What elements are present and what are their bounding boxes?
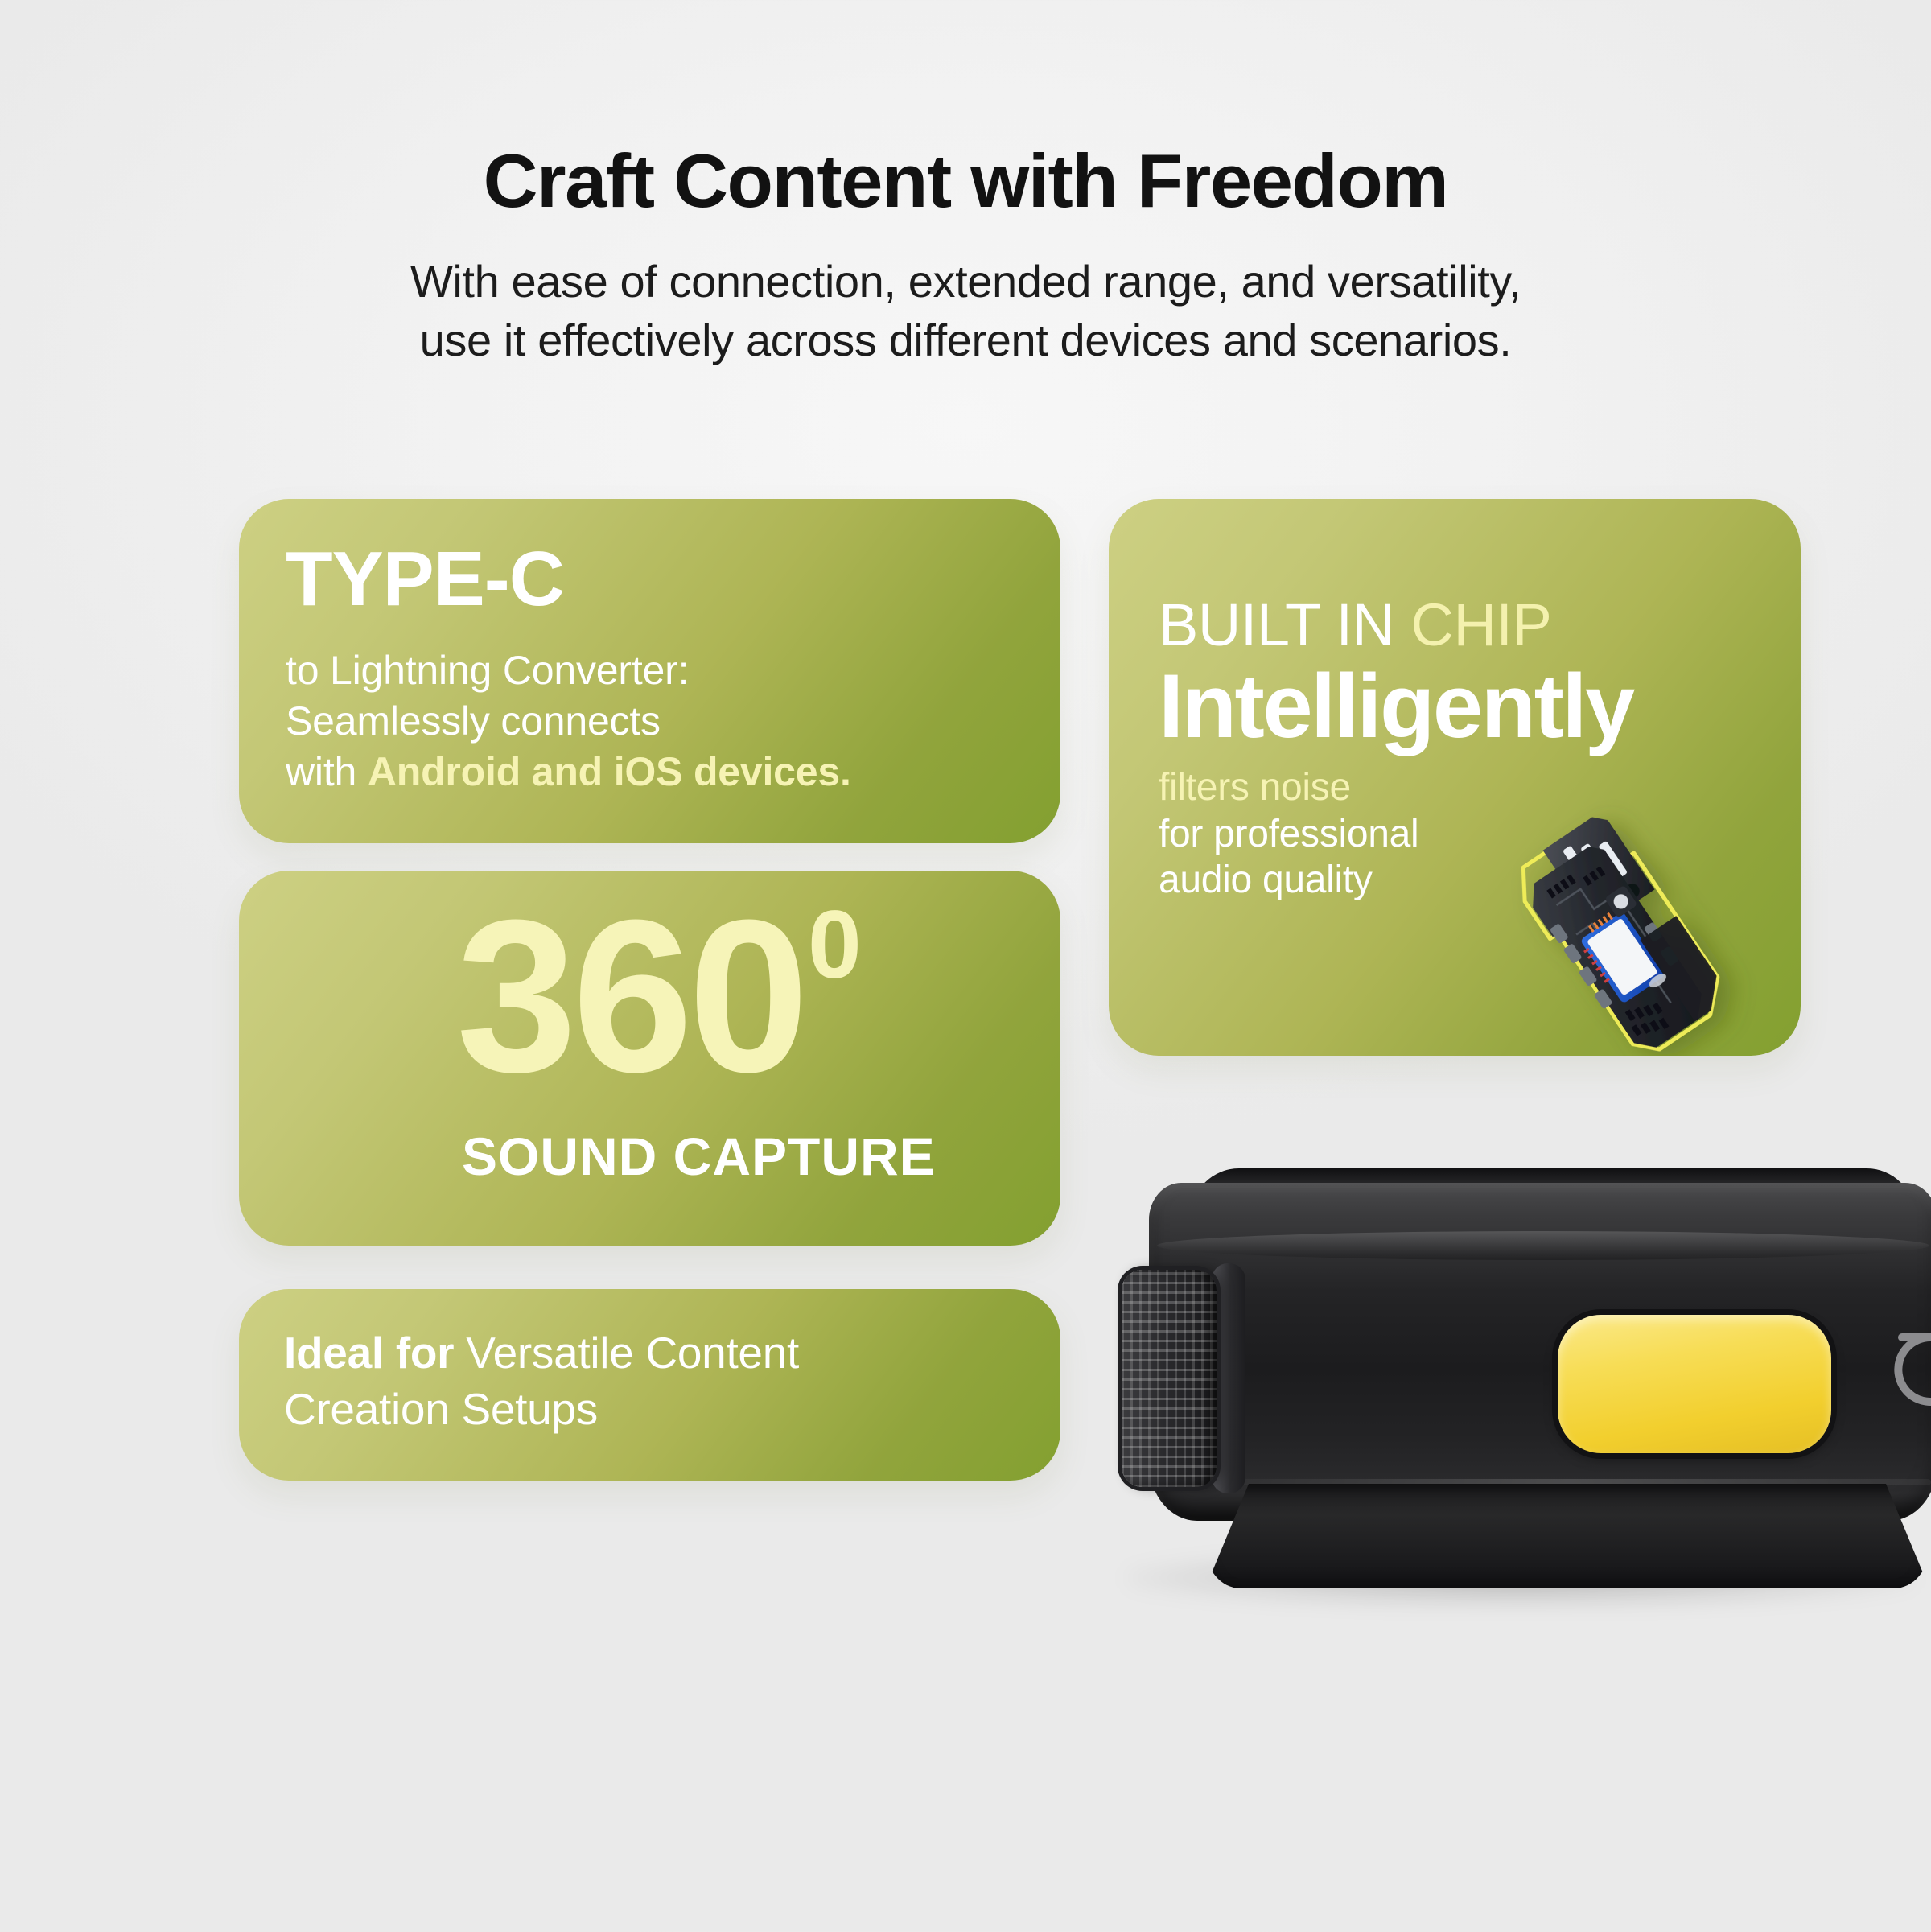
sound-360-number: 360 [456,888,804,1106]
product-rim-highlight [1157,1231,1929,1260]
ideal-lead: Ideal for [284,1328,454,1378]
type-c-body-line-2: Seamlessly connects [286,696,1060,747]
type-c-body-line-1: to Lightning Converter: [286,645,1060,696]
chip-body-line-1: filters noise [1159,764,1801,811]
feature-card-built-in-chip: BUILT IN CHIP Intelligently filters nois… [1109,499,1801,1056]
chip-body-line-3: audio quality [1159,857,1801,904]
product-photo [1110,1151,1931,1601]
feature-card-type-c: TYPE-C to Lightning Converter: Seamlessl… [239,499,1060,843]
feature-card-360-sound: 360 0 SOUND CAPTURE [239,871,1060,1246]
type-c-body-with: with [286,749,368,794]
type-c-body-line-3: with Android and iOS devices. [286,747,1060,797]
degree-symbol-icon: 0 [808,896,862,993]
type-c-heading: TYPE-C [286,541,1060,618]
page-subtitle: With ease of connection, extended range,… [0,253,1931,370]
feature-card-ideal-for: Ideal for Versatile Content Creation Set… [239,1289,1060,1481]
ideal-text: Ideal for Versatile Content Creation Set… [284,1324,1060,1438]
ideal-line-1: Ideal for Versatile Content [284,1324,1060,1381]
page-header: Craft Content with Freedom With ease of … [0,0,1931,370]
product-yellow-button[interactable] [1558,1315,1831,1453]
power-icon [1883,1320,1931,1416]
page-title: Craft Content with Freedom [0,143,1931,219]
product-textured-grip[interactable] [1122,1270,1217,1487]
chip-body: filters noise for professional audio qua… [1159,764,1801,904]
product-base [1205,1484,1929,1588]
chip-kicker-plain: BUILT IN [1159,591,1411,658]
sound-360-subtitle: SOUND CAPTURE [462,1130,936,1183]
product-grip-edge [1212,1263,1245,1493]
chip-kicker-accent: CHIP [1411,591,1552,658]
type-c-body-accent: Android and iOS devices. [368,749,851,794]
subtitle-line-2: use it effectively across different devi… [0,311,1931,370]
chip-heading: Intelligently [1159,661,1801,752]
chip-kicker: BUILT IN CHIP [1159,595,1801,655]
subtitle-line-1: With ease of connection, extended range,… [0,253,1931,311]
chip-body-line-2: for professional [1159,811,1801,858]
ideal-line-2: Creation Setups [284,1381,1060,1437]
ideal-rest: Versatile Content [454,1328,799,1378]
type-c-body: to Lightning Converter: Seamlessly conne… [286,645,1060,797]
